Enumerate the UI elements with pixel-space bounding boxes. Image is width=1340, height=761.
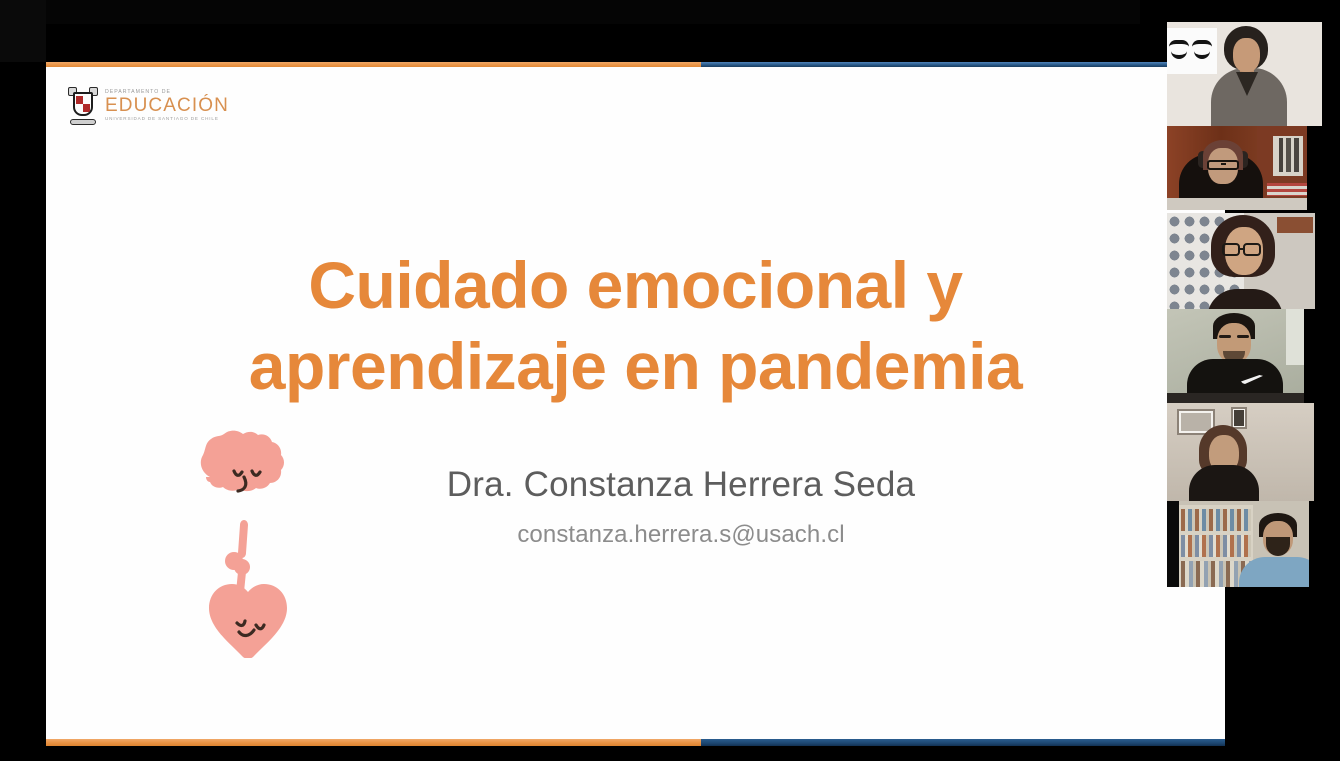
participant-video-tile-5[interactable] [1167,403,1314,501]
participant-video-tile-3[interactable] [1167,213,1315,309]
slide-surface: DEPARTAMENTO DE EDUCACIÓN UNIVERSIDAD DE… [46,67,1225,740]
author-name: Dra. Constanza Herrera Seda [301,465,1061,505]
participant-video-tile-2[interactable] [1167,126,1307,210]
participant-2-video [1167,126,1307,210]
letterbox-panel-top [46,0,1140,24]
slide-title-line-2: aprendizaje en pandemia [116,326,1155,407]
participant-5-video [1167,403,1314,501]
author-email: constanza.herrera.s@usach.cl [301,521,1061,549]
letterbox-panel-left [0,0,46,62]
slide-title: Cuidado emocional y aprendizaje en pande… [46,245,1225,406]
slide-bottom-rule-blue [701,739,1225,746]
slide-bottom-rule-orange [46,739,701,746]
participant-video-tile-6[interactable] [1167,501,1309,587]
logo-university-line: UNIVERSIDAD DE SANTIAGO DE CHILE [105,117,229,122]
slide-author: Dra. Constanza Herrera Seda constanza.he… [301,465,1061,549]
logo-wordmark: DEPARTAMENTO DE EDUCACIÓN UNIVERSIDAD DE… [105,90,229,122]
logo-name: EDUCACIÓN [105,96,229,115]
slide-title-line-1: Cuidado emocional y [116,245,1155,326]
participant-4-video [1167,309,1304,403]
participant-video-tile-4[interactable] [1167,309,1304,403]
participant-3-video [1167,213,1315,309]
usach-crest-icon [68,87,98,125]
participant-video-tile-1[interactable] [1167,22,1322,126]
participant-1-video [1167,22,1322,126]
shared-slide[interactable]: DEPARTAMENTO DE EDUCACIÓN UNIVERSIDAD DE… [46,62,1225,746]
crest-shield [73,92,93,116]
usach-education-logo: DEPARTAMENTO DE EDUCACIÓN UNIVERSIDAD DE… [68,87,229,125]
participant-6-video [1167,501,1309,587]
crest-base [70,119,96,125]
meeting-screen: DEPARTAMENTO DE EDUCACIÓN UNIVERSIDAD DE… [0,0,1340,761]
